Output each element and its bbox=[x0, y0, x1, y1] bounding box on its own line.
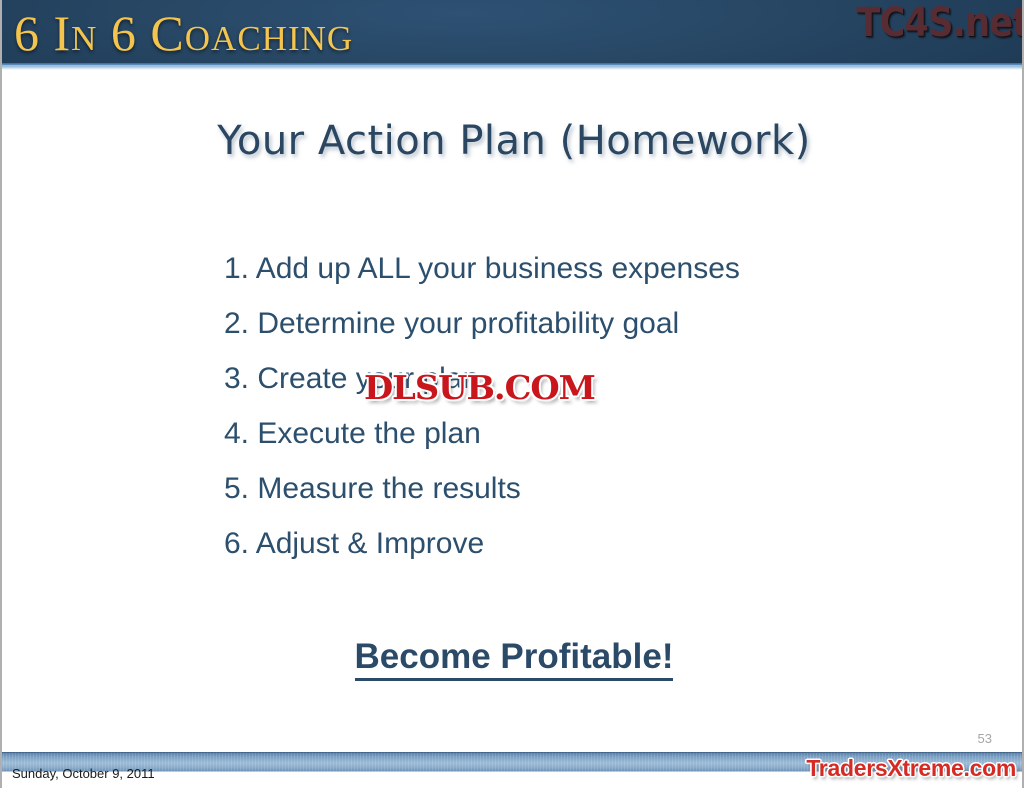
tc4s-logo: TC4S.net bbox=[856, 1, 1024, 45]
list-item: 6. Adjust & Improve bbox=[224, 516, 924, 571]
footer-date: Sunday, October 9, 2011 bbox=[12, 766, 155, 781]
list-item: 2. Determine your profitability goal bbox=[224, 296, 924, 351]
closing-statement-text: Become Profitable! bbox=[355, 637, 674, 681]
tradersxtreme-logo: TradersXtreme.com bbox=[806, 755, 1016, 782]
list-item: 4. Execute the plan bbox=[224, 406, 924, 461]
dlsub-watermark: DLSUB.COM bbox=[364, 370, 595, 406]
list-item: 1. Add up ALL your business expenses bbox=[224, 241, 924, 296]
brand-title: 6 In 6 Coaching bbox=[14, 5, 353, 61]
list-item: 5. Measure the results bbox=[224, 461, 924, 516]
presentation-slide: 6 In 6 Coaching TC4S.net Your Action Pla… bbox=[0, 0, 1024, 788]
closing-statement: Become Profitable! bbox=[2, 637, 1024, 677]
header-banner: 6 In 6 Coaching TC4S.net bbox=[0, 0, 1024, 66]
page-title: Your Action Plan (Homework) bbox=[2, 118, 1024, 164]
slide-number: 53 bbox=[978, 731, 992, 746]
header-divider bbox=[0, 66, 1024, 70]
